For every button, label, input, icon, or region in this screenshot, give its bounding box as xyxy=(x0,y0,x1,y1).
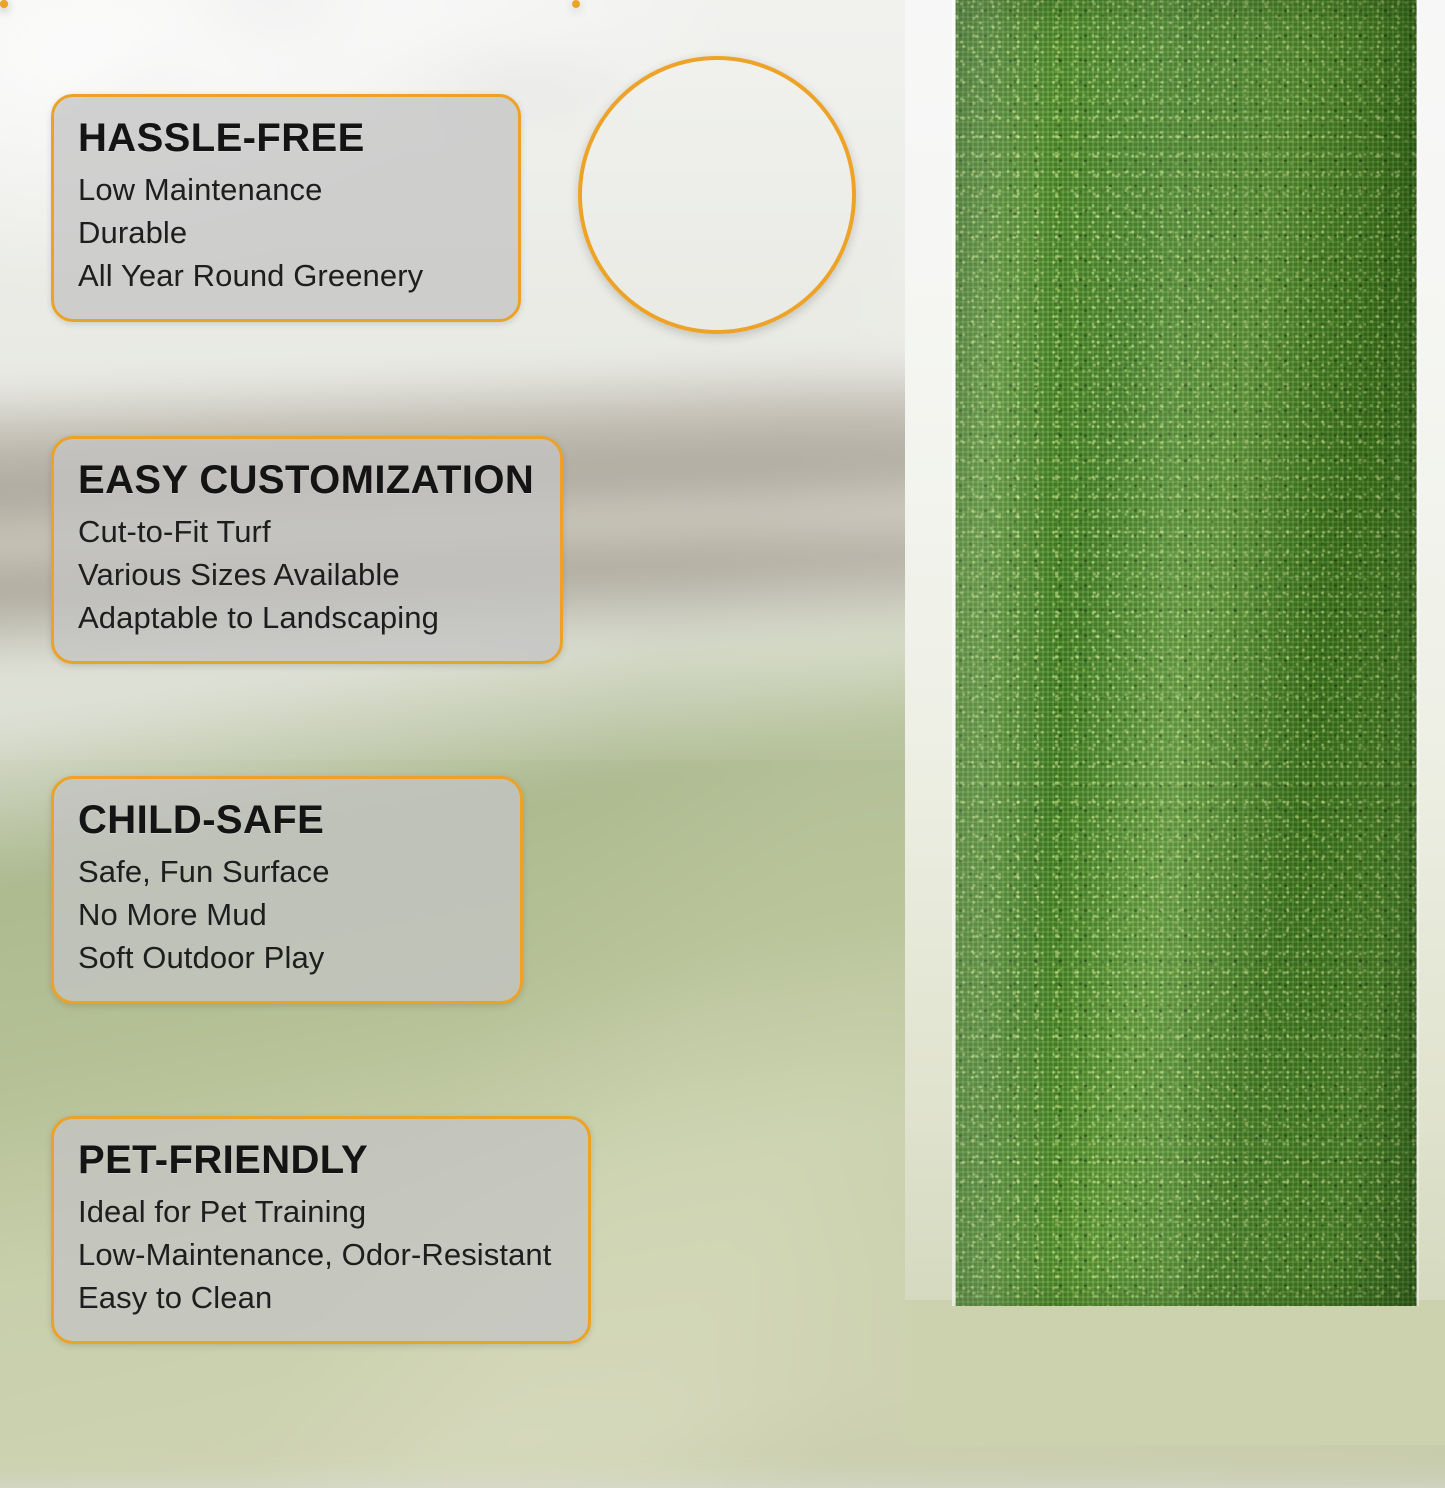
feature-card-pet-friendly: PET-FRIENDLY Ideal for Pet Training Low-… xyxy=(51,1116,591,1344)
feature-title: EASY CUSTOMIZATION xyxy=(78,459,536,501)
feature-card-easy-customization: EASY CUSTOMIZATION Cut-to-Fit Turf Vario… xyxy=(51,436,563,664)
feature-bullet-list: Safe, Fun Surface No More Mud Soft Outdo… xyxy=(78,851,496,979)
feature-bullet: Cut-to-Fit Turf xyxy=(78,511,536,554)
feature-card-child-safe: CHILD-SAFE Safe, Fun Surface No More Mud… xyxy=(51,776,523,1004)
feature-bullet: All Year Round Greenery xyxy=(78,255,494,298)
feature-bullet: Easy to Clean xyxy=(78,1277,564,1320)
feature-bullet: Adaptable to Landscaping xyxy=(78,597,536,640)
feature-bullet: No More Mud xyxy=(78,894,496,937)
feature-bullet: Ideal for Pet Training xyxy=(78,1191,564,1234)
feature-photo-dog xyxy=(0,0,8,8)
feature-bullet-list: Ideal for Pet Training Low-Maintenance, … xyxy=(78,1191,564,1319)
turf-sheen-overlay xyxy=(955,0,1417,1306)
feature-title: PET-FRIENDLY xyxy=(78,1139,564,1181)
feature-photo-installation xyxy=(572,0,580,8)
feature-bullet: Low Maintenance xyxy=(78,169,494,212)
feature-title: HASSLE-FREE xyxy=(78,117,494,159)
feature-bullet: Low-Maintenance, Odor-Resistant xyxy=(78,1234,564,1277)
feature-bullet-list: Low Maintenance Durable All Year Round G… xyxy=(78,169,494,297)
feature-bullet: Durable xyxy=(78,212,494,255)
feature-card-hassle-free: HASSLE-FREE Low Maintenance Durable All … xyxy=(51,94,521,322)
feature-bullet-list: Cut-to-Fit Turf Various Sizes Available … xyxy=(78,511,536,639)
turf-right-edge-highlight xyxy=(1416,0,1419,1306)
feature-photo-turf-roll xyxy=(578,56,856,334)
turf-left-edge-highlight xyxy=(952,0,956,1306)
feature-bullet: Soft Outdoor Play xyxy=(78,937,496,980)
artificial-turf-strip xyxy=(955,0,1417,1306)
product-panel-footer-background xyxy=(905,1300,1445,1445)
feature-title: CHILD-SAFE xyxy=(78,799,496,841)
feature-bullet: Safe, Fun Surface xyxy=(78,851,496,894)
feature-bullet: Various Sizes Available xyxy=(78,554,536,597)
